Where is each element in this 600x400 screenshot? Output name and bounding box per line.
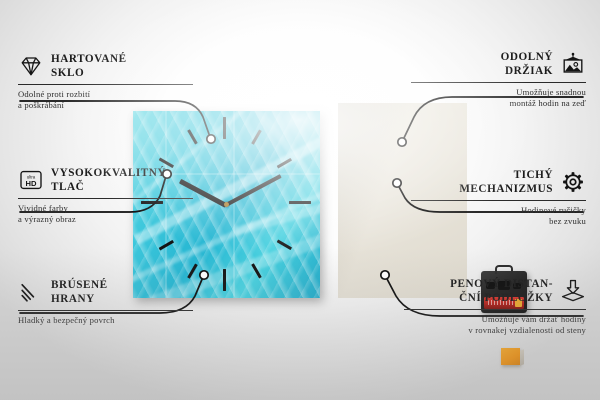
feature-desc-line1: Umožňuje vám držať hodiny <box>404 314 586 325</box>
foam-spacer-pad <box>501 348 520 365</box>
feature-header: ODOLNÝ DRŽIAK <box>411 50 586 78</box>
clock-tick-3 <box>289 201 311 204</box>
feature-durable-holder: ODOLNÝ DRŽIAK Umožňuje snadnou montáž ho… <box>411 50 586 109</box>
gear-icon <box>560 170 586 194</box>
feature-title-line1: VYSOKOKVALITNÝ <box>51 166 166 180</box>
feature-title-line1: ODOLNÝ <box>501 50 553 64</box>
feature-desc-line1: Odolné proti rozbití <box>18 89 193 100</box>
divider <box>18 310 193 311</box>
feature-title-line2: TLAČ <box>51 180 166 194</box>
feature-title-line2: SKLO <box>51 66 127 80</box>
feature-desc-line2: a výrazný obraz <box>18 214 193 225</box>
clock-center-pin <box>224 202 229 207</box>
feature-header: BRÚSENÉ HRANY <box>18 278 193 306</box>
feature-desc-line1: Hladký a bezpečný povrch <box>18 315 193 326</box>
glass-grid-line <box>233 111 235 298</box>
feature-title-line2: MECHANIZMUS <box>459 182 553 196</box>
feature-title-line1: HARTOVANÉ <box>51 52 127 66</box>
divider <box>18 198 193 199</box>
divider <box>18 84 193 85</box>
svg-text:HD: HD <box>26 179 37 188</box>
feature-desc-line2: montáž hodin na zeď <box>411 98 586 109</box>
clock-tick-12 <box>223 117 226 139</box>
feature-desc-line1: Hodinové ručičky <box>411 205 586 216</box>
feature-title-line1: PENOVÝ DISTAN- <box>450 277 553 291</box>
infographic-stage: HARTOVANÉ SKLO Odolné proti rozbití a po… <box>0 0 600 400</box>
feature-title-line1: TICHÝ <box>459 168 553 182</box>
divider <box>404 309 586 310</box>
feature-foam-spacers: PENOVÝ DISTAN- ČNÍ PODLOŽKY Umožňuje vám… <box>404 277 586 336</box>
feature-hq-print: ultra HD VYSOKOKVALITNÝ TLAČ Vividné far… <box>18 166 193 225</box>
feature-title-line2: ČNÍ PODLOŽKY <box>450 291 553 305</box>
feature-header: ultra HD VYSOKOKVALITNÝ TLAČ <box>18 166 193 194</box>
polished-edges-icon <box>18 280 44 304</box>
feature-desc-line2: v rovnakej vzdialenosti od steny <box>404 325 586 336</box>
divider <box>411 200 586 201</box>
mechanism-hanger-icon <box>495 265 513 274</box>
feature-desc-line2: bez zvuku <box>411 216 586 227</box>
clock-tick-6 <box>223 269 226 291</box>
feature-desc-line1: Umožňuje snadnou <box>411 87 586 98</box>
feature-desc-line2: a poškrábání <box>18 100 193 111</box>
clock-tick-11 <box>187 129 197 144</box>
feature-header: TICHÝ MECHANIZMUS <box>411 168 586 196</box>
diamond-icon <box>18 54 44 78</box>
feature-title-line1: BRÚSENÉ <box>51 278 108 292</box>
divider <box>411 82 586 83</box>
feature-title-line2: DRŽIAK <box>501 64 553 78</box>
feature-title-line2: HRANY <box>51 292 108 306</box>
foam-spacer-icon <box>560 279 586 303</box>
feature-silent-mechanism: TICHÝ MECHANIZMUS <box>411 168 586 227</box>
clock-tick-1 <box>251 129 261 144</box>
wall-mount-frame-icon <box>560 52 586 76</box>
feature-header: HARTOVANÉ SKLO <box>18 52 193 80</box>
clock-tick-7 <box>187 263 197 278</box>
feature-tempered-glass: HARTOVANÉ SKLO Odolné proti rozbití a po… <box>18 52 193 111</box>
feature-polished-edges: BRÚSENÉ HRANY Hladký a bezpečný povrch <box>18 278 193 326</box>
feature-header: PENOVÝ DISTAN- ČNÍ PODLOŽKY <box>404 277 586 305</box>
ultra-hd-icon: ultra HD <box>18 168 44 192</box>
feature-desc-line1: Vividné farby <box>18 203 193 214</box>
foam-pad-side <box>520 349 524 365</box>
